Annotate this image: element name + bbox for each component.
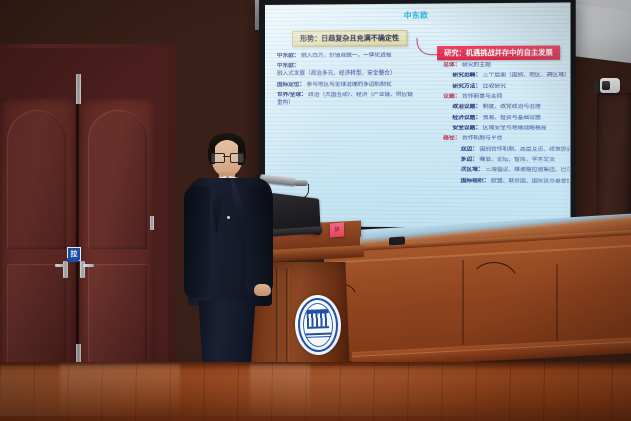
- camera-lens-icon: [602, 81, 610, 90]
- list-item: 多边： 峰会、论坛、智库、学术交流: [461, 157, 570, 165]
- list-item: 总体： 研究的主题: [443, 62, 569, 71]
- door-recess: 拉: [0, 48, 168, 372]
- door-panel-upper-left: [7, 110, 67, 250]
- slide-bullets-right: 总体： 研究的主题 研究范畴： 三个层面（国别、地区、跨区域） 研究方法： 比较…: [443, 62, 569, 189]
- podium-notice-card: 禁: [330, 222, 344, 237]
- floor-reflection-podium: [250, 364, 310, 420]
- bullet-text: 融入式发展（政治多元、经济转型、安全整合）: [277, 71, 396, 77]
- bullet-text: 制度、政党政治与治理: [483, 104, 541, 110]
- eyeglass-lens-right: [230, 153, 244, 163]
- slide-title-right: 研究：机遇挑战并存中的自主发展: [437, 45, 560, 60]
- bullet-text: 三个层面（国别、地区、跨区域）: [483, 72, 570, 78]
- ptz-camera-icon: [594, 78, 620, 98]
- presenter-hand: [254, 284, 271, 296]
- pull-sign-label: 拉: [71, 251, 78, 258]
- bullet-text: 比较研究: [483, 83, 506, 89]
- bullet-text: 融入西方，价值观统一，一体化进程: [301, 52, 392, 58]
- list-item: 政治议题： 制度、政党政治与治理: [452, 104, 569, 112]
- bullet-key: 路径：: [443, 136, 460, 142]
- podium-notice-label: 禁: [334, 227, 339, 233]
- list-item: 世界/全球： 政治（大国互动）、经济（产业链、供应链重构）: [277, 92, 419, 108]
- bullet-key: 国际定位：: [277, 81, 305, 87]
- bullet-text: 研究的主题: [462, 62, 491, 68]
- door-lever-right[interactable]: [83, 264, 94, 267]
- desk-seam-1: [462, 260, 464, 345]
- bullet-text: 欧盟、联合国、国际货币基金组织: [491, 178, 569, 185]
- eyeglasses-icon: [211, 153, 243, 161]
- list-item: 议题： 合作前景与走向: [443, 93, 569, 101]
- bullet-text: 国别合作机制、高层互访、政策协调、产业对接: [480, 146, 570, 152]
- camera-body: [600, 78, 620, 93]
- bullet-key: 经济议题：: [452, 115, 481, 121]
- door-hinge-side: [150, 216, 154, 230]
- bullet-key: 议题：: [443, 94, 460, 100]
- bullet-text: 三海倡议、维谢格拉德集团、巴尔干次区域: [485, 167, 569, 174]
- desk-seam-2: [556, 264, 558, 346]
- bullet-key: 次区域：: [461, 167, 484, 173]
- bullet-text: 区域安全与地缘战略格局: [483, 125, 547, 131]
- eyeglass-lens-left: [211, 153, 225, 163]
- bullet-key: 国际组织：: [461, 177, 490, 183]
- list-item: 路径： 合作机制与平台: [443, 136, 569, 144]
- list-item: 国际组织： 欧盟、联合国、国际货币基金组织: [461, 177, 570, 186]
- wall-slat-panel-top-left: [0, 0, 258, 46]
- bullet-text: 贸易、投资与基础设施: [483, 115, 541, 121]
- bullet-key: 中东欧：: [277, 63, 299, 69]
- list-item: 安全议题： 区域安全与地缘战略格局: [452, 125, 569, 133]
- floor-reflection-door: [60, 364, 180, 420]
- list-item: 次区域： 三海倡议、维谢格拉德集团、巴尔干次区域: [461, 167, 570, 176]
- list-item: 研究范畴： 三个层面（国别、地区、跨区域）: [452, 72, 569, 80]
- bullet-key: 中东欧：: [277, 53, 299, 59]
- list-item: 双边： 国别合作机制、高层互访、政策协调、产业对接: [461, 146, 570, 154]
- bullet-text: 参与地区与全球治理的多边机制化: [307, 81, 392, 87]
- presenter-arm-right: [246, 186, 273, 294]
- seal-building-icon: [306, 309, 329, 329]
- list-item: 国际定位： 参与地区与全球治理的多边机制化: [277, 81, 419, 89]
- list-item: 研究方法： 比较研究: [452, 83, 569, 91]
- bullet-key: 世界/全球：: [277, 92, 307, 98]
- door-lever-left[interactable]: [55, 264, 66, 267]
- bullet-key: 安全议题：: [452, 125, 481, 131]
- bullet-text: 合作机制与平台: [462, 136, 502, 142]
- list-item: 中东欧： 融入式发展（政治多元、经济转型、安全整合）: [277, 63, 419, 79]
- bullet-key: 研究范畴：: [452, 73, 481, 79]
- presenter-lapel-pin: [227, 216, 230, 219]
- door-hinge-top: [76, 74, 81, 104]
- bullet-key: 总体：: [443, 62, 460, 68]
- list-item: 中东欧： 融入西方，价值观统一，一体化进程: [277, 52, 419, 61]
- bullet-key: 政治议题：: [452, 104, 481, 110]
- bullet-text: 合作前景与走向: [462, 94, 502, 100]
- presenter-arm-left: [184, 186, 210, 298]
- presentation-screen: 中东欧 形势：日趋复杂且充满不确定性 研究：机遇挑战并存中的自主发展 中东欧： …: [265, 2, 571, 228]
- eyeglass-bridge: [223, 156, 230, 157]
- desk-device: [389, 236, 405, 245]
- lecture-hall-photo: 拉 中东欧 形势：日趋复杂且充满不确定性 研究：机遇挑战并存中的自主发展 中东欧…: [0, 0, 631, 421]
- pull-sign-subplate: [67, 258, 79, 262]
- bullet-key: 研究方法：: [452, 83, 481, 89]
- bullet-key: 双边：: [461, 146, 478, 152]
- slide-title-left: 形势：日趋复杂且充满不确定性: [292, 30, 407, 47]
- door-panel-upper-right: [88, 110, 148, 250]
- slide-top-label: 中东欧: [404, 10, 429, 21]
- bullet-key: 多边：: [461, 157, 478, 163]
- list-item: 经济议题： 贸易、投资与基础设施: [452, 115, 569, 123]
- slide-bullets-left: 中东欧： 融入西方，价值观统一，一体化进程 中东欧： 融入式发展（政治多元、经济…: [277, 52, 419, 110]
- bullet-text: 峰会、论坛、智库、学术交流: [480, 157, 555, 163]
